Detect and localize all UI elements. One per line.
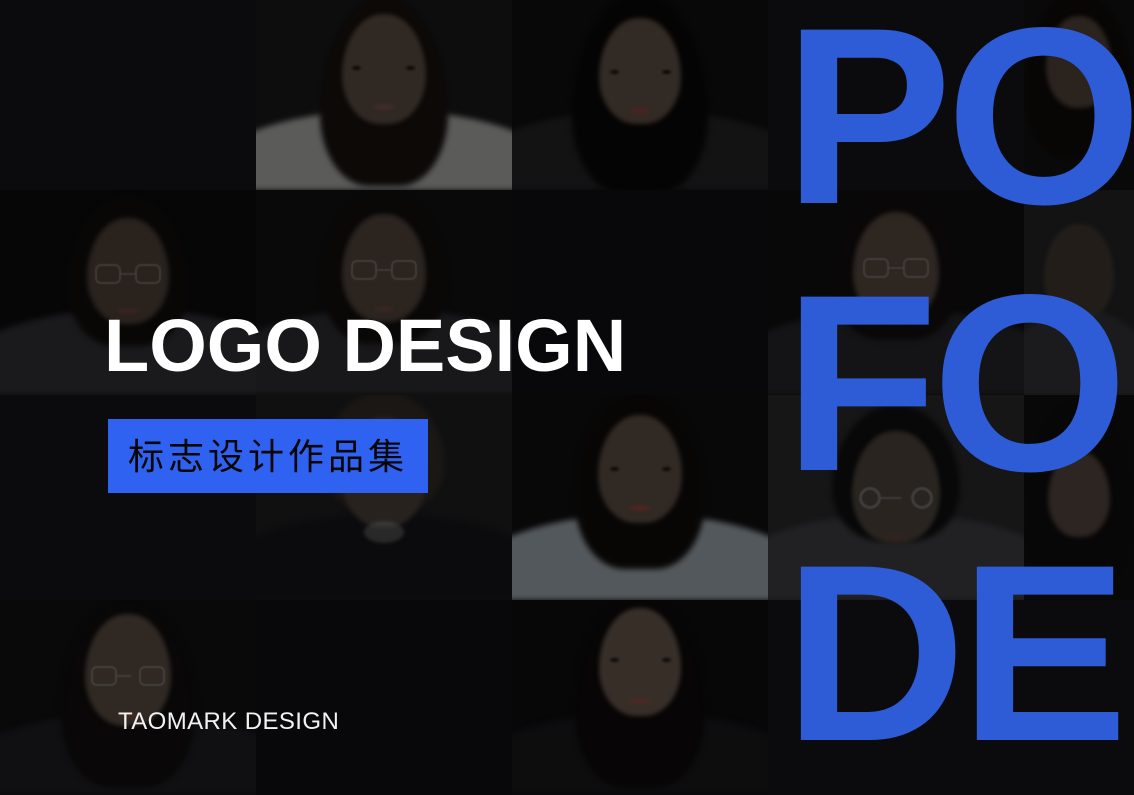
mosaic-tile (768, 600, 1024, 795)
mosaic-tile (1024, 395, 1134, 600)
photo-mosaic (0, 0, 1134, 795)
page-title: LOGO DESIGN (104, 303, 626, 388)
mosaic-tile (0, 600, 256, 795)
brand-name: TAOMARK DESIGN (118, 708, 339, 736)
mosaic-tile (768, 0, 1024, 190)
mosaic-tile (1024, 190, 1134, 395)
mosaic-tile (512, 395, 768, 600)
subtitle-badge: 标志设计作品集 (108, 419, 428, 493)
mosaic-tile (0, 0, 256, 190)
mosaic-tile (512, 600, 768, 795)
poster-canvas: PO FO DE LOGO DESIGN 标志设计作品集 TAOMARK DES… (0, 0, 1134, 795)
mosaic-tile (256, 0, 512, 190)
mosaic-tile (256, 600, 512, 795)
mosaic-tile (1024, 0, 1134, 190)
mosaic-tile (1024, 600, 1134, 795)
mosaic-tile (768, 190, 1024, 395)
mosaic-tile (768, 395, 1024, 600)
mosaic-tile (512, 0, 768, 190)
